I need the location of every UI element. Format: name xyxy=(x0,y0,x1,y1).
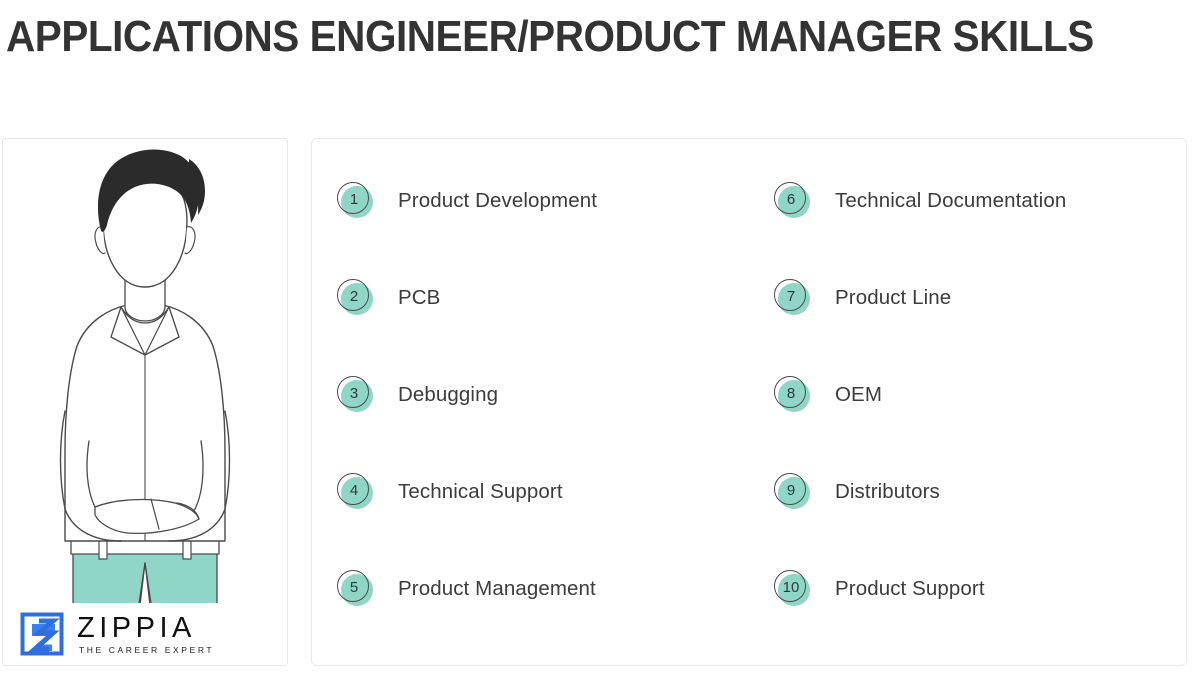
skill-label: Distributors xyxy=(835,480,940,504)
skills-column-left: 1 Product Development 2 PCB 3 Debuggi xyxy=(312,139,749,665)
skill-label: OEM xyxy=(835,383,882,407)
skill-number-badge: 7 xyxy=(774,279,812,317)
skills-card: 1 Product Development 2 PCB 3 Debuggi xyxy=(311,138,1187,666)
skill-label: Product Management xyxy=(398,577,596,601)
badge-number: 3 xyxy=(337,376,371,410)
skill-item-7: 7 Product Line xyxy=(774,280,1186,316)
skill-number-badge: 4 xyxy=(337,473,375,511)
badge-number: 2 xyxy=(337,279,371,313)
skill-number-badge: 2 xyxy=(337,279,375,317)
badge-number: 9 xyxy=(774,473,808,507)
skill-item-6: 6 Technical Documentation xyxy=(774,183,1186,219)
badge-number: 6 xyxy=(774,182,808,216)
zippia-logo: ZIPPIA THE CAREER EXPERT xyxy=(3,603,287,665)
skill-item-3: 3 Debugging xyxy=(337,377,749,413)
skill-number-badge: 10 xyxy=(774,570,812,608)
badge-number: 7 xyxy=(774,279,808,313)
skill-label: Product Line xyxy=(835,286,951,310)
zippia-z-icon xyxy=(19,611,65,657)
badge-number: 1 xyxy=(337,182,371,216)
skill-label: PCB xyxy=(398,286,440,310)
badge-number: 8 xyxy=(774,376,808,410)
person-illustration xyxy=(3,138,287,631)
skill-number-badge: 6 xyxy=(774,182,812,220)
skill-item-8: 8 OEM xyxy=(774,377,1186,413)
skill-label: Product Development xyxy=(398,189,597,213)
skill-number-badge: 8 xyxy=(774,376,812,414)
skill-label: Technical Support xyxy=(398,480,563,504)
illustration-panel: ZIPPIA THE CAREER EXPERT xyxy=(2,138,288,666)
skill-item-4: 4 Technical Support xyxy=(337,474,749,510)
badge-number: 5 xyxy=(337,570,371,604)
page-title: APPLICATIONS ENGINEER/PRODUCT MANAGER SK… xyxy=(6,8,1200,66)
skill-number-badge: 1 xyxy=(337,182,375,220)
skill-item-1: 1 Product Development xyxy=(337,183,749,219)
skill-label: Technical Documentation xyxy=(835,189,1066,213)
skill-number-badge: 5 xyxy=(337,570,375,608)
zippia-wordmark: ZIPPIA THE CAREER EXPERT xyxy=(77,613,214,656)
skill-item-2: 2 PCB xyxy=(337,280,749,316)
badge-number: 4 xyxy=(337,473,371,507)
skill-item-9: 9 Distributors xyxy=(774,474,1186,510)
skill-number-badge: 3 xyxy=(337,376,375,414)
zippia-name: ZIPPIA xyxy=(77,613,214,643)
skills-column-right: 6 Technical Documentation 7 Product Line… xyxy=(749,139,1186,665)
zippia-tagline: THE CAREER EXPERT xyxy=(77,644,214,656)
badge-number: 10 xyxy=(774,570,808,604)
skill-number-badge: 9 xyxy=(774,473,812,511)
skill-item-10: 10 Product Support xyxy=(774,571,1186,607)
skill-label: Debugging xyxy=(398,383,498,407)
skill-item-5: 5 Product Management xyxy=(337,571,749,607)
skill-label: Product Support xyxy=(835,577,985,601)
